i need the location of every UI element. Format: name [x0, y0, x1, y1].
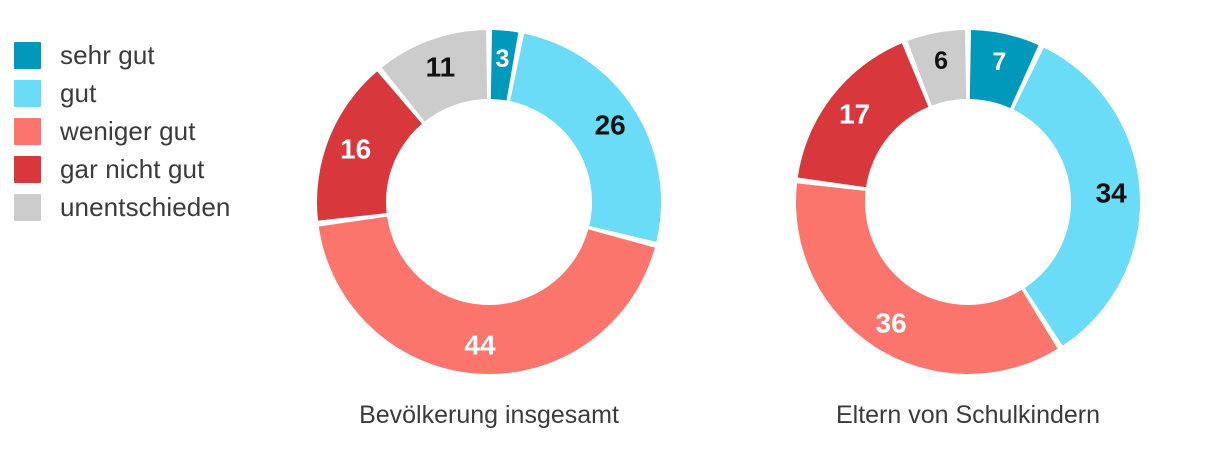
donut-slice-value-sehr-gut: 3 [496, 45, 510, 73]
donut-slice-value-gut: 26 [595, 110, 626, 141]
legend-swatch-gar-nicht-gut [14, 156, 41, 183]
legend-label-sehr-gut: sehr gut [60, 40, 155, 70]
legend-item-sehr-gut: sehr gut [14, 36, 284, 74]
donut-slice-value-gar-nicht-gut: 17 [839, 99, 870, 130]
legend-item-weniger-gut: weniger gut [14, 112, 284, 150]
chart-caption-0: Bevölkerung insgesamt [289, 398, 689, 432]
donut-slice-value-gut: 34 [1096, 178, 1128, 209]
donut-slice-value-unentschieden: 6 [934, 47, 948, 75]
legend: sehr gut gut weniger gut gar nicht gut u… [14, 36, 284, 226]
legend-label-gar-nicht-gut: gar nicht gut [60, 154, 204, 184]
donut-slice-gut[interactable] [510, 34, 661, 242]
legend-swatch-unentschieden [14, 194, 41, 221]
legend-label-unentschieden: unentschieden [60, 192, 230, 222]
donut-slice-value-gar-nicht-gut: 16 [340, 134, 371, 165]
legend-label-weniger-gut: weniger gut [60, 116, 196, 146]
legend-item-gut: gut [14, 74, 284, 112]
chart-caption-1: Eltern von Schulkindern [768, 398, 1168, 432]
donut-chart-1: 73436176 [768, 0, 1168, 404]
donut-chart-0: 326441611 [289, 0, 689, 404]
chart-bevoelkerung-insgesamt: 326441611 Bevölkerung insgesamt [289, 0, 689, 468]
legend-swatch-weniger-gut [14, 118, 41, 145]
donut-slice-weniger-gut[interactable] [796, 183, 1058, 374]
chart-eltern-von-schulkindern: 73436176 Eltern von Schulkindern [768, 0, 1168, 468]
legend-swatch-sehr-gut [14, 42, 41, 69]
chart-canvas: sehr gut gut weniger gut gar nicht gut u… [0, 0, 1220, 468]
donut-slice-value-weniger-gut: 44 [464, 330, 496, 361]
donut-slice-value-unentschieden: 11 [426, 52, 456, 83]
donut-slice-value-weniger-gut: 36 [876, 308, 907, 339]
legend-label-gut: gut [60, 78, 96, 108]
legend-swatch-gut [14, 80, 41, 107]
legend-item-gar-nicht-gut: gar nicht gut [14, 150, 284, 188]
legend-item-unentschieden: unentschieden [14, 188, 284, 226]
donut-slice-value-sehr-gut: 7 [992, 48, 1006, 76]
